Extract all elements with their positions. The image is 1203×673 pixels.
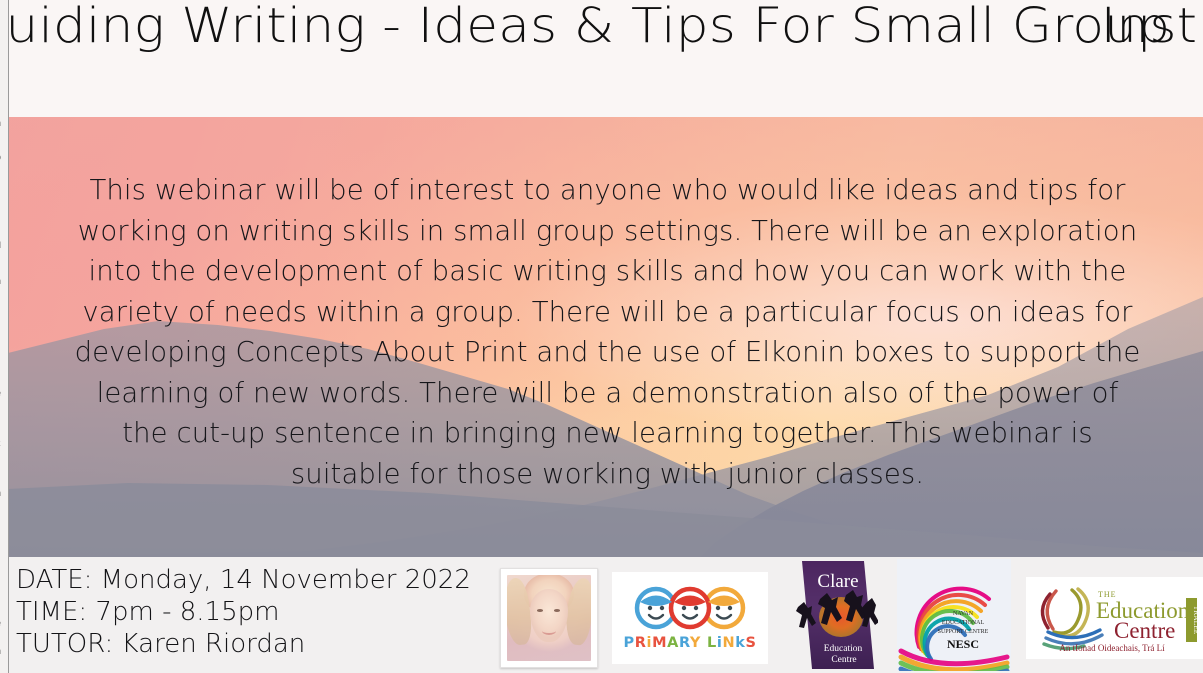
nesc-line-3: SUPPORT CENTRE xyxy=(938,629,989,635)
primary-links-word-2: LiNkS xyxy=(707,635,756,651)
title-line-2: Instruction In Early Intervention Initia… xyxy=(1101,0,1203,59)
webinar-poster: This webinar will be of interest to anyo… xyxy=(0,0,1203,673)
sliver-ghost-text: o xyxy=(0,152,1,162)
tutor-photo xyxy=(500,568,598,668)
sliver-ghost-text: n xyxy=(0,646,1,656)
education-centre-word-2: Centre xyxy=(1114,618,1175,643)
clare-line-1: Clare xyxy=(817,571,858,592)
clare-line-2: Education xyxy=(824,644,863,654)
page-title: Guiding Writing - Ideas & Tips For Small… xyxy=(8,0,1203,59)
title-line-1: Guiding Writing - Ideas & Tips For Small… xyxy=(8,0,1170,59)
event-time: TIME: 7pm - 8.15pm xyxy=(16,596,471,628)
tralee-education-centre-logo: THE Education Centre TRALEE An tIonad Oi… xyxy=(1026,577,1203,659)
primary-links-letter: N xyxy=(722,635,735,651)
primary-links-letter: k xyxy=(735,635,745,651)
primary-links-letter: L xyxy=(707,635,717,651)
hair-right xyxy=(564,577,591,646)
event-details: DATE: Monday, 14 November 2022 TIME: 7pm… xyxy=(8,557,471,660)
clare-education-centre-logo: Clare Education Centre xyxy=(782,557,882,673)
footer-bar: DATE: Monday, 14 November 2022 TIME: 7pm… xyxy=(8,557,1203,673)
sliver-ghost-text: k xyxy=(0,438,1,448)
sliver-ghost-text: n xyxy=(0,488,1,498)
primary-links-letter: S xyxy=(745,635,756,651)
primary-links-letter: Y xyxy=(690,635,701,651)
primary-links-wordmark: PRiMARYLiNkS xyxy=(624,635,757,651)
event-date: DATE: Monday, 14 November 2022 xyxy=(16,564,471,596)
education-centre-irish: An tIonad Oideachais, Trá Lí xyxy=(1059,643,1165,653)
nesc-logo: NAVAN EDUCATIONAL SUPPORT CENTRE NESC xyxy=(896,557,1012,673)
nesc-line-1: NAVAN xyxy=(953,611,974,617)
webinar-description: This webinar will be of interest to anyo… xyxy=(70,170,1145,494)
background-window-sliver[interactable]: n o l d n l e k n l e n xyxy=(0,0,9,673)
primary-links-letter: R xyxy=(679,635,690,651)
tutor-portrait-image xyxy=(507,575,591,661)
sliver-ghost-text: n xyxy=(0,118,1,128)
sliver-ghost-text: e xyxy=(0,388,1,398)
sliver-ghost-text: n xyxy=(0,276,1,286)
nesc-acronym: NESC xyxy=(947,637,979,651)
primary-links-letter: A xyxy=(667,635,679,651)
primary-links-logo: PRiMARYLiNkS xyxy=(612,572,768,664)
primary-links-letter: M xyxy=(652,635,667,651)
sliver-ghost-text: d xyxy=(0,240,1,250)
primary-links-letter: P xyxy=(624,635,635,651)
sliver-ghost-text: e xyxy=(0,618,1,628)
nesc-line-2: EDUCATIONAL xyxy=(942,620,985,626)
primary-links-word-1: PRiMARY xyxy=(624,635,702,651)
clare-line-3: Centre xyxy=(831,655,856,665)
education-centre-vertical: TRALEE xyxy=(1192,606,1201,635)
primary-links-letter: R xyxy=(635,635,647,651)
primary-links-faces-icon xyxy=(624,585,757,631)
event-tutor: TUTOR: Karen Riordan xyxy=(16,628,471,660)
title-band: Guiding Writing - Ideas & Tips For Small… xyxy=(8,0,1203,117)
logo-strip: PRiMARYLiNkS xyxy=(500,557,1203,673)
smile xyxy=(542,627,555,635)
